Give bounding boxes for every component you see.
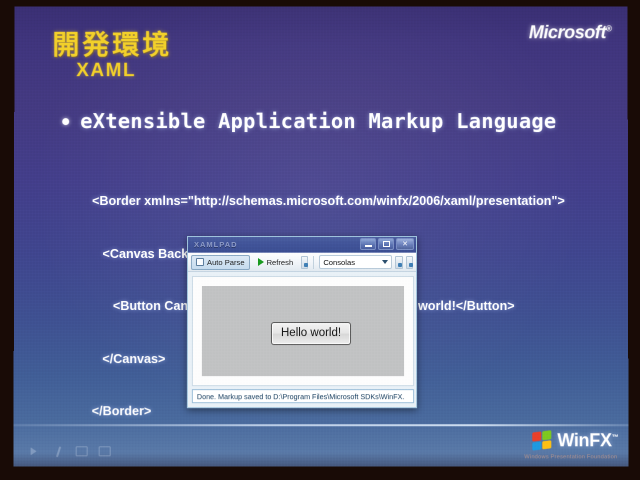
- minimize-icon: [365, 245, 372, 247]
- toolbar-separator: [313, 256, 314, 269]
- slide-title-japanese: 開発環境: [52, 23, 172, 62]
- winfx-product-name: WinFX: [557, 430, 611, 450]
- footer-divider: [14, 424, 629, 426]
- minimize-button[interactable]: [360, 238, 376, 250]
- maximize-icon: [383, 241, 390, 247]
- previous-slide-icon[interactable]: [30, 446, 42, 456]
- code-line: <Border xmlns="http://schemas.microsoft.…: [92, 193, 565, 210]
- window-title: XAMLPAD: [194, 240, 238, 249]
- zoom-in-icon[interactable]: [395, 256, 402, 269]
- slide-subtitle: XAML: [76, 60, 136, 82]
- winfx-logo-text: WinFX™: [557, 430, 618, 451]
- refresh-button[interactable]: Refresh: [253, 255, 299, 270]
- bullet-text: eXtensible Application Markup Language: [80, 109, 556, 133]
- checkbox-icon: [196, 258, 204, 266]
- font-family-value: Consolas: [323, 258, 355, 267]
- window-controls: ✕: [360, 238, 414, 250]
- auto-parse-button[interactable]: Auto Parse: [191, 255, 250, 270]
- projector-photo-frame: 開発環境 XAML Microsoft® eXtensible Applicat…: [0, 0, 640, 480]
- microsoft-logo-tm: ®: [606, 24, 612, 33]
- winfx-logo: WinFX™: [532, 430, 618, 451]
- status-text: Done. Markup saved to D:\Program Files\M…: [197, 392, 405, 401]
- auto-parse-label: Auto Parse: [207, 258, 245, 267]
- xaml-render-surface: Hello world!: [192, 276, 414, 386]
- save-icon[interactable]: [301, 256, 308, 269]
- refresh-label: Refresh: [267, 258, 294, 267]
- xamlpad-window[interactable]: XAMLPAD ✕ Auto Parse Refresh: [187, 236, 417, 408]
- microsoft-logo: Microsoft®: [529, 22, 612, 43]
- font-family-dropdown[interactable]: Consolas: [319, 255, 392, 269]
- window-toolbar: Auto Parse Refresh Consolas: [188, 253, 416, 272]
- winfx-trademark: ™: [612, 434, 619, 441]
- maximize-button[interactable]: [378, 238, 394, 250]
- microsoft-logo-text: Microsoft: [529, 22, 606, 42]
- hello-world-button[interactable]: Hello world!: [271, 322, 351, 345]
- chevron-down-icon: [382, 260, 388, 264]
- bullet-dot-icon: [62, 118, 69, 125]
- window-statusbar: Done. Markup saved to D:\Program Files\M…: [192, 389, 414, 403]
- play-icon: [258, 258, 264, 266]
- presenter-menu-icon[interactable]: [99, 446, 111, 456]
- window-titlebar[interactable]: XAMLPAD ✕: [188, 237, 416, 253]
- presentation-slide: 開発環境 XAML Microsoft® eXtensible Applicat…: [14, 6, 629, 466]
- slide-list-icon[interactable]: [76, 446, 88, 456]
- winfx-tagline: Windows Presentation Foundation: [524, 454, 617, 460]
- close-button[interactable]: ✕: [396, 238, 414, 250]
- pen-tool-icon[interactable]: [53, 446, 65, 456]
- close-icon: ✕: [402, 241, 408, 248]
- presenter-controls: [30, 446, 111, 456]
- zoom-out-icon[interactable]: [406, 256, 413, 269]
- bullet-row: eXtensible Application Markup Language: [62, 109, 556, 133]
- windows-flag-icon: [532, 429, 553, 452]
